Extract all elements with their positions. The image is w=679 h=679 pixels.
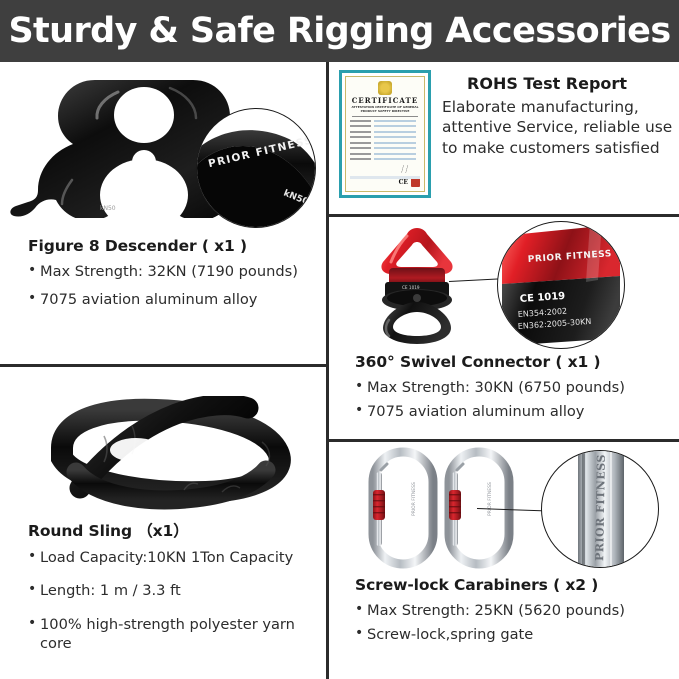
- carabiners-bullet-1: Max Strength: 25KN (5620 pounds): [355, 601, 673, 620]
- rohs-body: Elaborate manufacturing, attentive Servi…: [442, 97, 674, 158]
- panel-rohs-test-report: CERTIFICATE ATTESTATION CERTIFICATE OF G…: [329, 62, 679, 214]
- svg-text:PRIOR FITNESS: PRIOR FITNESS: [411, 482, 417, 516]
- certificate-band: [350, 176, 420, 179]
- round-sling-bullet-2: Length: 1 m / 3.3 ft: [28, 581, 328, 600]
- carabiners-image: PRIOR FITNESS PRIOR FITNESS: [367, 446, 537, 570]
- svg-text:kN50: kN50: [100, 205, 116, 212]
- svg-text:PRIOR FITNESS: PRIOR FITNESS: [487, 482, 493, 516]
- carabiners-title: Screw-lock Carabiners ( x2 ): [355, 576, 673, 594]
- certificate-heading: CERTIFICATE: [350, 97, 420, 104]
- swivel-bullet-2: 7075 aviation aluminum alloy: [355, 402, 673, 421]
- rohs-text-block: ROHS Test Report Elaborate manufacturing…: [442, 74, 674, 158]
- round-sling-text-block: Round Sling （x1） Load Capacity:10KN 1Ton…: [28, 519, 328, 653]
- swivel-bullet-list: Max Strength: 30KN (6750 pounds) 7075 av…: [355, 378, 673, 422]
- certificate-row: [350, 147, 420, 149]
- figure-8-bullet-2: 7075 aviation aluminum alloy: [28, 290, 316, 309]
- page-title: Sturdy & Safe Rigging Accessories: [8, 11, 670, 51]
- rohs-title: ROHS Test Report: [442, 74, 674, 93]
- figure-8-title: Figure 8 Descender ( x1 ): [28, 237, 316, 255]
- carabiners-bullet-list: Max Strength: 25KN (5620 pounds) Screw-l…: [355, 601, 673, 645]
- carabiner-magnifier: PRIOR FITNESS: [541, 450, 659, 568]
- swivel-connector-image: CE 1019 EN354:2002: [355, 222, 485, 347]
- certificate-row: [350, 158, 420, 160]
- swivel-bullet-1: Max Strength: 30KN (6750 pounds): [355, 378, 673, 397]
- round-sling-bullet-list: Load Capacity:10KN 1Ton Capacity Length:…: [28, 548, 328, 653]
- round-sling-bullet-1: Load Capacity:10KN 1Ton Capacity: [28, 548, 328, 567]
- certificate-signature: [392, 165, 418, 173]
- carabiners-bullet-2: Screw-lock,spring gate: [355, 625, 673, 644]
- figure-8-text-block: Figure 8 Descender ( x1 ) Max Strength: …: [28, 237, 316, 319]
- carabiners-text-block: Screw-lock Carabiners ( x2 ) Max Strengt…: [355, 576, 673, 645]
- certificate-subheading: ATTESTATION CERTIFICATE OF GENERAL PRODU…: [350, 106, 420, 114]
- certificate-row: [350, 136, 420, 138]
- round-sling-title: Round Sling （x1）: [28, 519, 328, 541]
- panel-swivel-connector: CE 1019 EN354:2002: [329, 217, 679, 439]
- carabiner-magnifier-svg: PRIOR FITNESS: [542, 451, 658, 567]
- figure-8-magnifier: PRIOR FITNESS kN50: [196, 108, 316, 228]
- certificate-row: [350, 120, 420, 122]
- product-infographic: Sturdy & Safe Rigging Accessories: [0, 0, 679, 679]
- figure-8-bullet-1: Max Strength: 32KN (7190 pounds): [28, 262, 316, 281]
- panel-screw-lock-carabiners: PRIOR FITNESS PRIOR FITNESS: [329, 442, 679, 679]
- panel-round-sling: Round Sling （x1） Load Capacity:10KN 1Ton…: [0, 367, 326, 679]
- round-sling-svg: [16, 396, 312, 514]
- swivel-magnifier-svg: PRIOR FITNESS CE 1019 EN354:2002 EN362:2…: [498, 222, 624, 348]
- certificate-inner: CERTIFICATE ATTESTATION CERTIFICATE OF G…: [345, 76, 425, 192]
- certificate-row: [350, 153, 420, 155]
- round-sling-image: [16, 396, 312, 514]
- round-sling-bullet-3: 100% high-strength polyester yarn core: [28, 615, 328, 654]
- certificate-seal-icon: [378, 81, 392, 95]
- figure-8-magnifier-svg: PRIOR FITNESS kN50: [197, 109, 315, 227]
- certificate-rule: [352, 116, 418, 117]
- certificate-badge-icon: [411, 178, 420, 187]
- certificate-row: [350, 131, 420, 133]
- swivel-text-block: 360° Swivel Connector ( x1 ) Max Strengt…: [355, 353, 673, 422]
- certificate-row: [350, 142, 420, 144]
- carabiner-left: PRIOR FITNESS: [373, 452, 433, 564]
- swivel-title: 360° Swivel Connector ( x1 ): [355, 353, 673, 371]
- carabiners-svg: PRIOR FITNESS PRIOR FITNESS: [367, 446, 537, 570]
- figure-8-bullet-list: Max Strength: 32KN (7190 pounds) 7075 av…: [28, 262, 316, 310]
- swivel-magnifier: PRIOR FITNESS CE 1019 EN354:2002 EN362:2…: [497, 221, 625, 349]
- header-bar: Sturdy & Safe Rigging Accessories: [0, 0, 679, 62]
- panel-figure-8-descender: kN50 PRIOR FITNESS: [0, 62, 326, 364]
- certificate-image: CERTIFICATE ATTESTATION CERTIFICATE OF G…: [339, 70, 431, 198]
- carabiner-magnifier-engraving: PRIOR FITNESS: [593, 454, 608, 561]
- swivel-connector-svg: CE 1019 EN354:2002: [355, 222, 485, 347]
- certificate-footer: CE: [350, 178, 420, 187]
- certificate-field-rows: [350, 120, 420, 161]
- certificate-row: [350, 125, 420, 127]
- ce-mark-icon: CE: [399, 179, 408, 186]
